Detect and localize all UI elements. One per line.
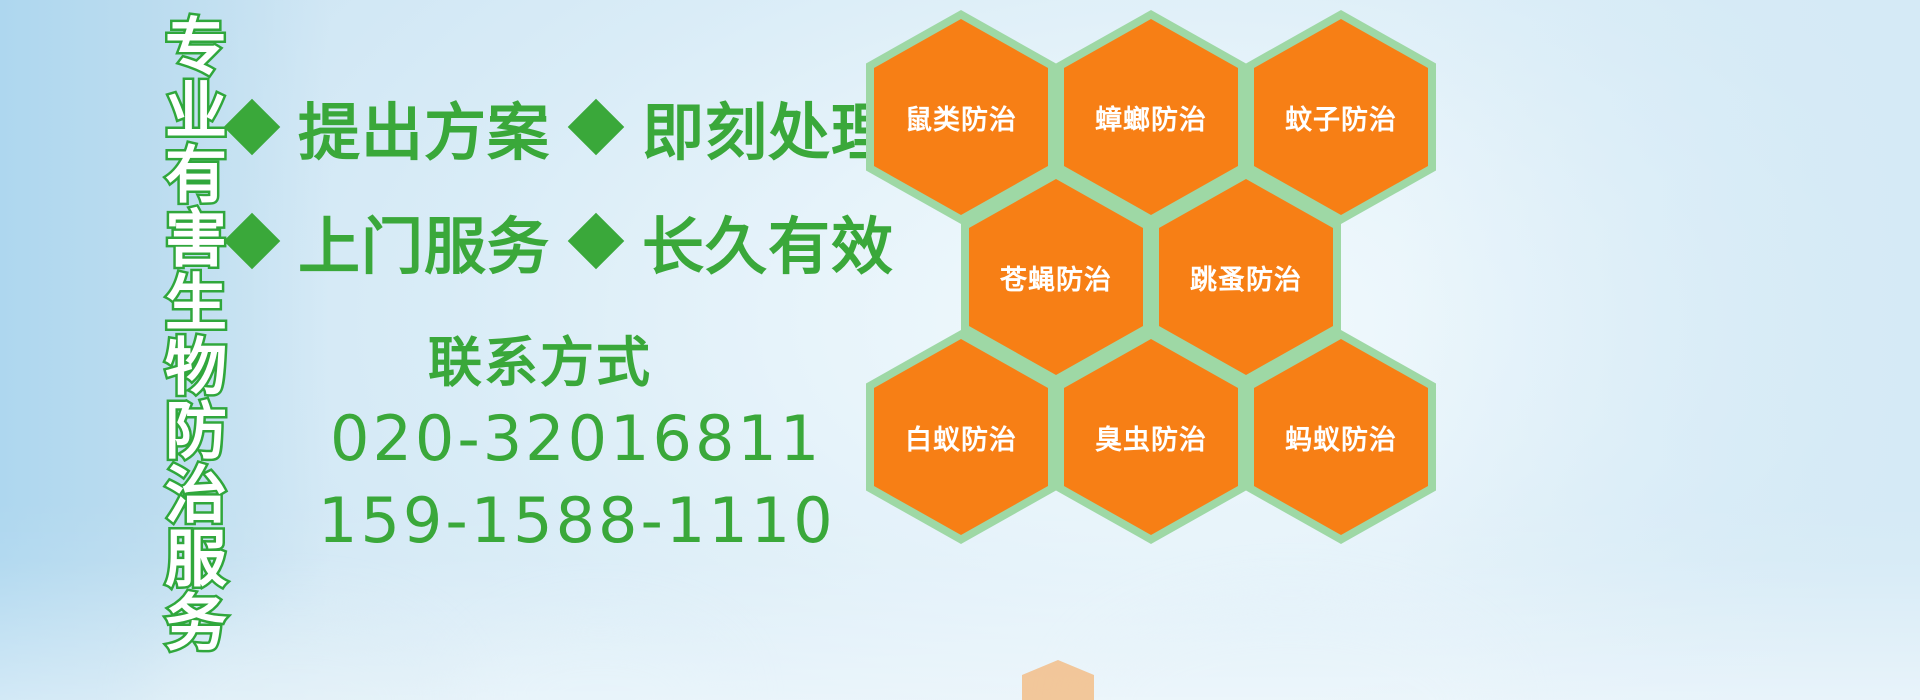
phone-landline[interactable]: 020-32016811 [330, 402, 822, 475]
slogan-text-immediate: 即刻处理 [642, 82, 894, 172]
vertical-headline: 专业有害生物防治服务 [104, 14, 222, 574]
diamond-icon [224, 213, 281, 270]
slogan-text-onsite: 上门服务 [298, 196, 550, 286]
diamond-icon [568, 213, 625, 270]
service-label: 蚊子防治 [1285, 98, 1397, 137]
hex-inner-fill: 跳蚤防治 [1159, 179, 1333, 375]
hex-inner-fill: 白蚁防治 [874, 339, 1048, 535]
contact-heading: 联系方式 [428, 318, 652, 397]
service-label: 白蚁防治 [905, 418, 1017, 457]
service-label: 臭虫防治 [1095, 418, 1207, 457]
slogan-text-propose: 提出方案 [298, 82, 550, 172]
service-label: 蟑螂防治 [1095, 98, 1207, 137]
service-hexagon-cluster: 鼠类防治 蟑螂防治 蚊子防治 苍蝇防治 跳蚤防治 白蚁防治 [858, 0, 1458, 560]
pest-control-banner: 专业有害生物防治服务 提出方案 即刻处理 上门服务 长久有效 联系方式 020-… [0, 0, 1920, 700]
hex-inner-fill: 蚊子防治 [1254, 19, 1428, 215]
phone-mobile[interactable]: 159-1588-1110 [318, 484, 836, 557]
service-label: 鼠类防治 [905, 98, 1017, 137]
hex-inner-fill: 臭虫防治 [1064, 339, 1238, 535]
slogan-line-2: 上门服务 长久有效 [232, 196, 894, 286]
slogan-text-longlasting: 长久有效 [642, 196, 894, 286]
hex-inner-fill: 蚂蚁防治 [1254, 339, 1428, 535]
hex-inner-fill: 鼠类防治 [874, 19, 1048, 215]
service-label: 跳蚤防治 [1190, 258, 1302, 297]
slogan-line-1: 提出方案 即刻处理 [232, 82, 894, 172]
hex-inner-fill: 蟑螂防治 [1064, 19, 1238, 215]
service-label: 蚂蚁防治 [1285, 418, 1397, 457]
service-label: 苍蝇防治 [1000, 258, 1112, 297]
diamond-icon [568, 99, 625, 156]
diamond-icon [224, 99, 281, 156]
hex-inner-fill: 苍蝇防治 [969, 179, 1143, 375]
